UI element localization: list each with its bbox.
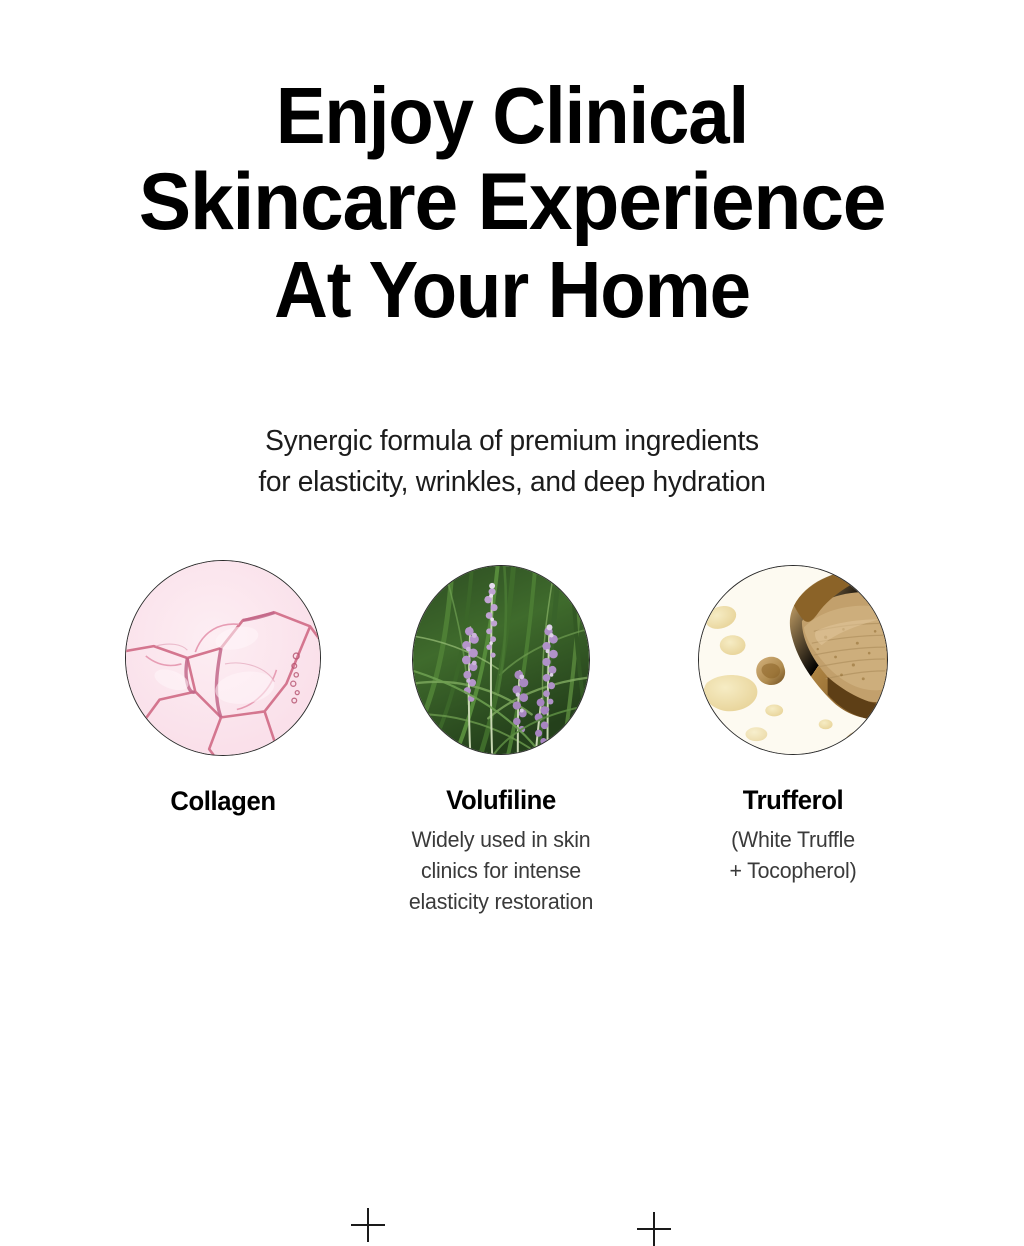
ingredient-trufferol: Trufferol (White Truffle + Tocopherol) bbox=[663, 565, 923, 886]
subtitle-line-2: for elasticity, wrinkles, and deep hydra… bbox=[15, 462, 1008, 503]
page-title: Enjoy Clinical Skincare Experience At Yo… bbox=[0, 72, 1024, 333]
volufiline-desc-line-3: elasticity restoration bbox=[375, 886, 627, 917]
ingredient-name-trufferol: Trufferol bbox=[670, 785, 917, 815]
ingredient-name-collagen: Collagen bbox=[100, 786, 347, 816]
trufferol-desc-line-1: (White Truffle bbox=[667, 824, 919, 855]
plus-icon-2 bbox=[637, 1212, 671, 1246]
headline-line-2: Skincare Experience bbox=[15, 159, 1008, 246]
subtitle-line-1: Synergic formula of premium ingredients bbox=[15, 421, 1008, 462]
trufferol-desc-line-2: + Tocopherol) bbox=[667, 855, 919, 886]
ingredient-row: Collagen bbox=[0, 560, 1024, 980]
volufiline-desc-line-2: clinics for intense bbox=[375, 855, 627, 886]
plus-icon-1 bbox=[351, 1208, 385, 1242]
headline-line-1: Enjoy Clinical bbox=[36, 72, 988, 159]
ingredient-desc-trufferol: (White Truffle + Tocopherol) bbox=[663, 824, 923, 886]
white-truffle-image bbox=[698, 565, 888, 755]
ingredient-name-volufiline: Volufiline bbox=[378, 785, 625, 815]
volufiline-desc-line-1: Widely used in skin bbox=[375, 824, 627, 855]
liriope-flowers-image bbox=[412, 565, 590, 755]
ingredient-desc-volufiline: Widely used in skin clinics for intense … bbox=[371, 824, 631, 917]
collagen-bubbles-image bbox=[125, 560, 321, 756]
page-subtitle: Synergic formula of premium ingredients … bbox=[0, 421, 1024, 503]
ingredient-collagen: Collagen bbox=[93, 560, 353, 816]
headline-line-3: At Your Home bbox=[36, 246, 988, 333]
ingredient-volufiline: Volufiline Widely used in skin clinics f… bbox=[371, 565, 631, 917]
promo-page: Enjoy Clinical Skincare Experience At Yo… bbox=[0, 0, 1024, 1024]
